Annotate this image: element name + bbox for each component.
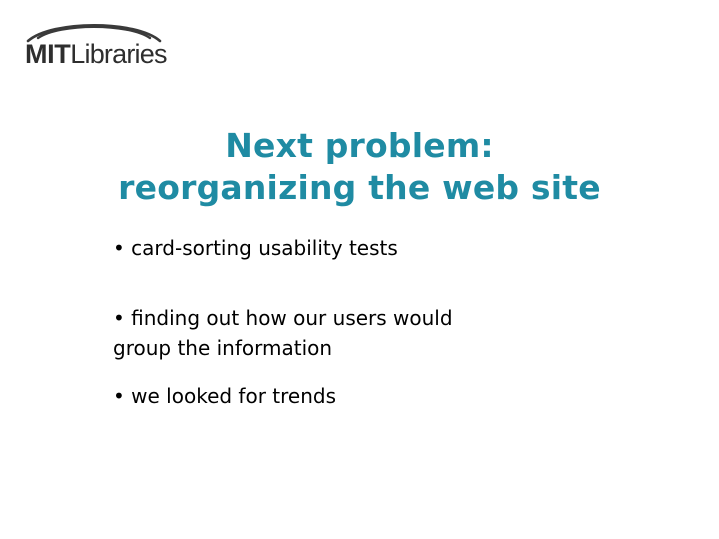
- bullet-line: • we looked for trends: [113, 381, 673, 411]
- slide-title: Next problem: reorganizing the web site: [0, 125, 719, 209]
- slide-title-line-1: Next problem:: [0, 125, 719, 167]
- slide-body: • card-sorting usability tests • finding…: [113, 233, 673, 411]
- bullet-item: • we looked for trends: [113, 381, 673, 411]
- logo-libraries-text: Libraries: [70, 39, 166, 69]
- bullet-item: • card-sorting usability tests: [113, 233, 673, 263]
- bullet-line: group the information: [113, 333, 673, 363]
- bullet-item: • finding out how our users would group …: [113, 303, 673, 363]
- slide-title-line-2: reorganizing the web site: [0, 167, 719, 209]
- logo-wordmark: MITLibraries: [25, 39, 167, 69]
- bullet-line: • card-sorting usability tests: [113, 233, 673, 263]
- logo-mit-text: MIT: [25, 39, 70, 69]
- presentation-slide: MITLibraries Next problem: reorganizing …: [0, 0, 719, 539]
- bullet-line: • finding out how our users would: [113, 303, 673, 333]
- mit-libraries-logo: MITLibraries: [24, 17, 164, 73]
